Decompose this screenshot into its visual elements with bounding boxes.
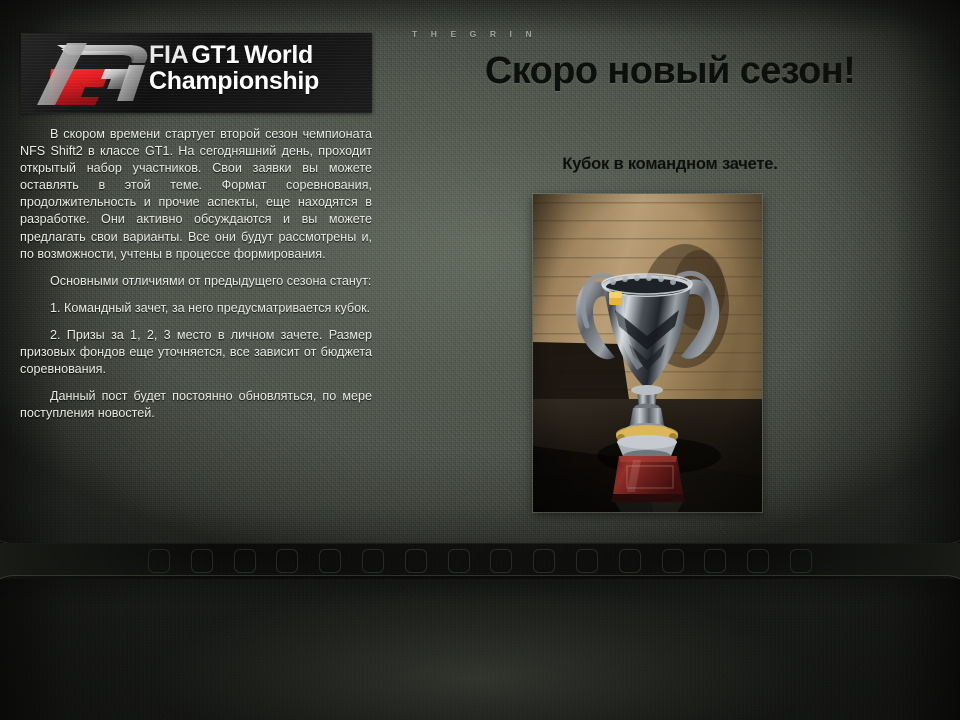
grille-cell xyxy=(662,549,684,573)
grille-cell xyxy=(191,549,213,573)
slide-eyebrow-label: T H E G R I N xyxy=(412,29,537,39)
grille-cell xyxy=(405,549,427,573)
page-title: Скоро новый сезон! xyxy=(400,50,940,93)
body-paragraph-1: В скором времени стартует второй сезон ч… xyxy=(20,126,372,263)
logo-word-gt1: GT1 xyxy=(191,41,239,69)
decorative-grille-band xyxy=(0,543,960,579)
grille-cell xyxy=(619,549,641,573)
presentation-slide: FIAGT1World Championship В скором времен… xyxy=(0,0,960,720)
body-paragraph-3: 1. Командный зачет, за него предусматрив… xyxy=(20,300,372,317)
logo-word-world: World xyxy=(244,41,313,69)
grille-cell xyxy=(790,549,812,573)
body-paragraph-2: Основными отличиями от предыдущего сезон… xyxy=(20,273,372,290)
lower-panel xyxy=(0,576,960,720)
grille-cell xyxy=(362,549,384,573)
grille-fade-right xyxy=(750,543,960,579)
grille-cell xyxy=(490,549,512,573)
grille-cell xyxy=(234,549,256,573)
body-paragraph-4: 2. Призы за 1, 2, 3 место в личном зачет… xyxy=(20,327,372,378)
fia-gt1-logo-mark xyxy=(33,35,163,111)
grille-cell xyxy=(276,549,298,573)
body-paragraph-5: Данный пост будет постоянно обновляться,… xyxy=(20,388,372,422)
grille-fade-left xyxy=(0,543,210,579)
grille-cell xyxy=(148,549,170,573)
trophy-photo-image xyxy=(533,194,762,512)
fia-gt1-logo-text: FIAGT1World Championship xyxy=(149,43,319,94)
fia-gt1-logo: FIAGT1World Championship xyxy=(21,33,372,113)
grille-cell xyxy=(533,549,555,573)
slide-subtitle: Кубок в командном зачете. xyxy=(400,155,940,174)
grille-cells xyxy=(148,549,812,573)
trophy-photo xyxy=(533,194,762,512)
grille-cell xyxy=(448,549,470,573)
grille-cell xyxy=(747,549,769,573)
grille-cell xyxy=(319,549,341,573)
logo-word-championship: Championship xyxy=(149,69,319,95)
body-text-block: В скором времени стартует второй сезон ч… xyxy=(20,126,372,422)
grille-cell xyxy=(576,549,598,573)
grille-cell xyxy=(704,549,726,573)
logo-word-fia: FIA xyxy=(149,41,188,69)
